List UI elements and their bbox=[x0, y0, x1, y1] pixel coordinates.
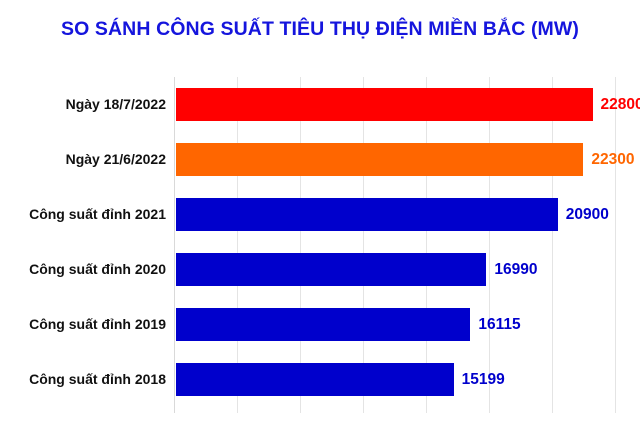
bar-value-label: 22300 bbox=[591, 143, 634, 176]
bar-segment[interactable] bbox=[176, 308, 470, 341]
bar-chart: SO SÁNH CÔNG SUẤT TIÊU THỤ ĐIỆN MIỀN BẮC… bbox=[0, 0, 640, 427]
bar-value-label: 15199 bbox=[462, 363, 505, 396]
category-label: Ngày 21/6/2022 bbox=[66, 143, 166, 176]
bar-segment[interactable] bbox=[176, 143, 583, 176]
bar-value-label: 20900 bbox=[566, 198, 609, 231]
chart-title: SO SÁNH CÔNG SUẤT TIÊU THỤ ĐIỆN MIỀN BẮC… bbox=[0, 18, 640, 41]
bar-row: Công suất đỉnh 2019 16115 bbox=[0, 308, 640, 341]
category-label: Ngày 18/7/2022 bbox=[66, 88, 166, 121]
bar-segment[interactable] bbox=[176, 88, 593, 121]
bar-row: Công suất đỉnh 2021 20900 bbox=[0, 198, 640, 231]
bar-row: Ngày 18/7/2022 22800 bbox=[0, 88, 640, 121]
bar-value-label: 22800 bbox=[601, 88, 640, 121]
bar-value-label: 16115 bbox=[478, 308, 520, 341]
category-label: Công suất đỉnh 2018 bbox=[29, 363, 166, 396]
category-label: Công suất đỉnh 2019 bbox=[29, 308, 166, 341]
bar-segment[interactable] bbox=[176, 253, 486, 286]
category-label: Công suất đỉnh 2020 bbox=[29, 253, 166, 286]
bar-segment[interactable] bbox=[176, 198, 558, 231]
bar-row: Công suất đỉnh 2020 16990 bbox=[0, 253, 640, 286]
category-label: Công suất đỉnh 2021 bbox=[29, 198, 166, 231]
bar-segment[interactable] bbox=[176, 363, 454, 396]
bar-row: Ngày 21/6/2022 22300 bbox=[0, 143, 640, 176]
bar-row: Công suất đỉnh 2018 15199 bbox=[0, 363, 640, 396]
bar-value-label: 16990 bbox=[494, 253, 537, 286]
